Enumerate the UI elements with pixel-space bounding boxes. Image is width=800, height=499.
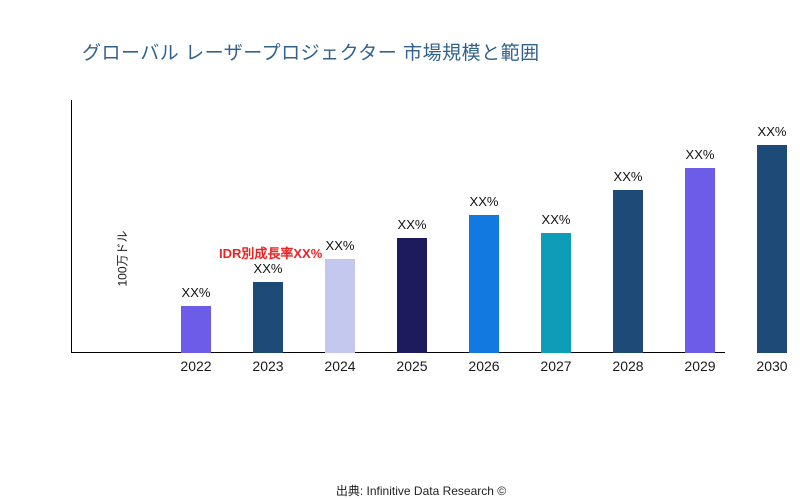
bar-value-label-2028: XX%	[602, 169, 654, 184]
bar-value-label-2030: XX%	[746, 124, 798, 139]
bar-group: XX%	[325, 259, 355, 353]
bar-value-label-2026: XX%	[458, 194, 510, 209]
bar-value-label-2029: XX%	[674, 147, 726, 162]
bar-2027[interactable]	[541, 233, 571, 353]
bar-2028[interactable]	[613, 190, 643, 353]
bar-2030[interactable]	[757, 145, 787, 353]
bar-group: XX%	[469, 215, 499, 353]
chart-title: グローバル レーザープロジェクター 市場規模と範囲	[82, 38, 540, 65]
bar-group: XX%	[757, 145, 787, 353]
x-tick-2029: 2029	[670, 358, 730, 374]
bar-2025[interactable]	[397, 238, 427, 353]
bar-value-label-2027: XX%	[530, 212, 582, 227]
bar-group: XX%	[397, 238, 427, 353]
x-tick-2026: 2026	[454, 358, 514, 374]
bar-group: XX%	[253, 282, 283, 353]
bar-value-label-2023: XX%	[242, 261, 294, 276]
bar-value-label-2024: XX%	[314, 238, 366, 253]
plot-area: 100万ドル IDR別成長率XX% XX%XX%XX%XX%XX%XX%XX%X…	[71, 100, 771, 353]
bar-value-label-2025: XX%	[386, 217, 438, 232]
bar-value-label-2022: XX%	[170, 285, 222, 300]
x-tick-2022: 2022	[166, 358, 226, 374]
x-tick-2030: 2030	[742, 358, 800, 374]
bar-group: XX%	[685, 168, 715, 353]
x-tick-2028: 2028	[598, 358, 658, 374]
bar-group: XX%	[541, 233, 571, 353]
bar-2022[interactable]	[181, 306, 211, 353]
y-axis-line	[71, 100, 72, 353]
bar-group: XX%	[181, 306, 211, 353]
x-tick-2024: 2024	[310, 358, 370, 374]
bar-2023[interactable]	[253, 282, 283, 353]
x-tick-2023: 2023	[238, 358, 298, 374]
source-note: 出典: Infinitive Data Research ©	[71, 482, 771, 499]
x-tick-2025: 2025	[382, 358, 442, 374]
chart-container: グローバル レーザープロジェクター 市場規模と範囲 100万ドル IDR別成長率…	[0, 0, 800, 450]
bar-2024[interactable]	[325, 259, 355, 353]
x-tick-2027: 2027	[526, 358, 586, 374]
growth-rate-annotation: IDR別成長率XX%	[219, 243, 322, 262]
bar-group: XX%	[613, 190, 643, 353]
bar-2029[interactable]	[685, 168, 715, 353]
y-axis-label: 100万ドル	[114, 194, 131, 324]
bar-2026[interactable]	[469, 215, 499, 353]
